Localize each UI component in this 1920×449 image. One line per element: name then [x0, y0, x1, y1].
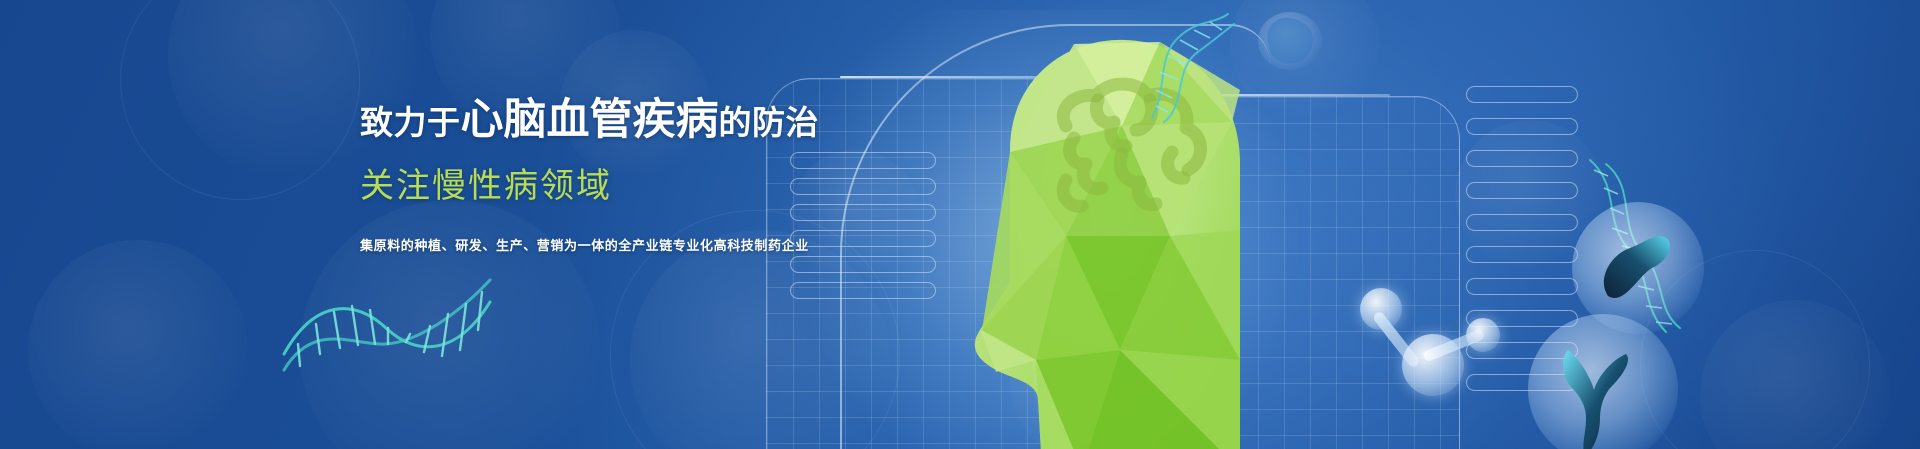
- bacterium-shape: [1604, 236, 1670, 298]
- low-poly-human-head-profile: [860, 30, 1280, 449]
- bokeh-circle: [1700, 300, 1890, 449]
- page-subtitle: 关注慢性病领域: [360, 158, 880, 207]
- cell-with-chromosome: [1528, 314, 1678, 449]
- molecule-atom: [1402, 334, 1464, 396]
- headline-prefix: 致力于: [360, 104, 461, 141]
- page-title: 致力于心脑血管疾病的防治: [360, 96, 880, 144]
- headline-emphasis: 心脑血管疾病: [461, 96, 719, 144]
- molecule-structure: [1330, 230, 1500, 390]
- hero-banner: 致力于心脑血管疾病的防治 关注慢性病领域 集原料的种植、研发、生产、营销为一体的…: [0, 0, 1920, 449]
- molecule-atom: [1360, 288, 1402, 330]
- chromosome-shape: [1563, 350, 1628, 449]
- page-tagline: 集原料的种植、研发、生产、营销为一体的全产业链专业化高科技制药企业: [360, 235, 880, 254]
- bokeh-ring: [120, 0, 360, 200]
- head-polygons: [975, 40, 1240, 449]
- hud-bar: [1466, 182, 1578, 199]
- dna-double-helix: [276, 258, 506, 388]
- cell-blob: [1258, 12, 1322, 70]
- bokeh-circle: [28, 240, 248, 449]
- hud-bar: [1466, 86, 1578, 103]
- molecule-atom: [1466, 318, 1500, 352]
- hud-bar: [1466, 118, 1578, 135]
- headline-suffix: 的防治: [719, 104, 820, 141]
- hud-bar: [1466, 150, 1578, 167]
- hero-copy: 致力于心脑血管疾病的防治 关注慢性病领域 集原料的种植、研发、生产、营销为一体的…: [360, 96, 880, 254]
- hud-bar: [1466, 214, 1578, 231]
